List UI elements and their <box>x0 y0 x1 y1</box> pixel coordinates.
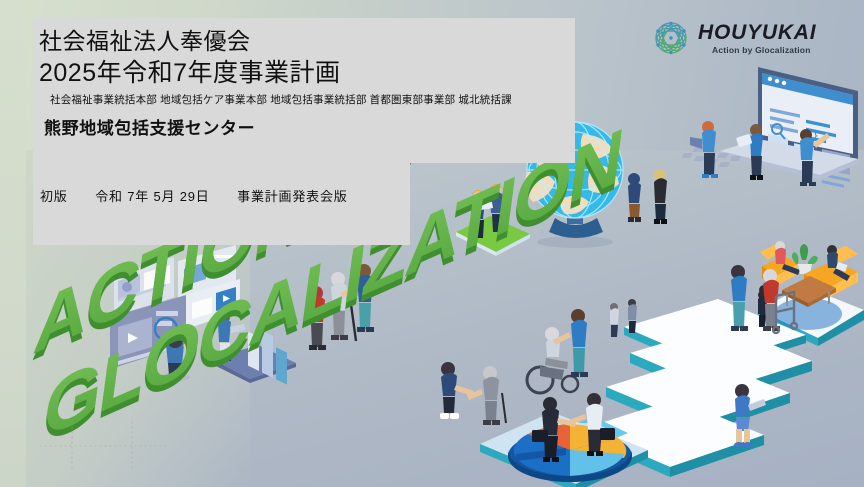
plan-title: 2025年令和7年度事業計画 <box>39 53 341 89</box>
edition-and-date: 初版 令和 7年 5月 29日 事業計画発表会版 <box>40 186 348 205</box>
houyukai-logo: HOUYUKAI Action by Glocalization <box>650 14 850 62</box>
presentation-slide: { } <box>0 0 864 487</box>
logo-tagline: Action by Glocalization <box>712 46 816 55</box>
logo-wordmark: HOUYUKAI Action by Glocalization <box>698 22 816 55</box>
organization-title: 社会福祉法人奉優会 <box>39 22 251 56</box>
logo-name: HOUYUKAI <box>698 22 816 43</box>
title-text-block: 社会福祉法人奉優会 2025年令和7年度事業計画 社会福祉事業統括本部 地域包括… <box>0 0 864 487</box>
center-name: 熊野地域包括支援センター <box>44 114 255 139</box>
network-circle-icon <box>650 17 692 59</box>
department-list: 社会福祉事業統括本部 地域包括ケア事業本部 地域包括事業統括部 首都圏東部事業部… <box>50 92 512 107</box>
